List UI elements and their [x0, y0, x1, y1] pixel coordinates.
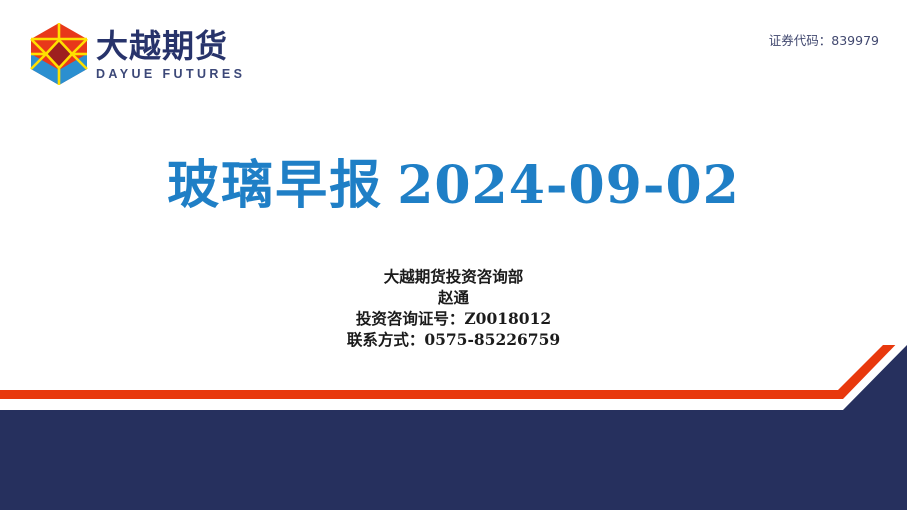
company-logo: 大越期货 DAYUE FUTURES — [30, 22, 245, 86]
contact-block: 大越期货投资咨询部 赵通 投资咨询证号：Z0018012 联系方式：0575-8… — [0, 266, 907, 350]
bottom-decorative-band — [0, 345, 907, 510]
logo-chinese-name: 大越期货 — [96, 30, 245, 62]
dayue-hexagon-logo-icon — [30, 22, 88, 86]
logo-wordmark: 大越期货 DAYUE FUTURES — [96, 28, 245, 81]
contact-department: 大越期货投资咨询部 — [0, 266, 907, 287]
page-title-date: 2024-09-02 — [397, 155, 740, 216]
report-cover-slide: 大越期货 DAYUE FUTURES 证券代码：839979 玻璃早报2024-… — [0, 0, 907, 510]
security-code: 证券代码：839979 — [769, 30, 879, 49]
logo-english-name: DAYUE FUTURES — [96, 68, 245, 81]
page-title-main: 玻璃早报 — [167, 156, 383, 216]
band-navy-shape — [0, 345, 907, 510]
page-title: 玻璃早报2024-09-02 — [0, 143, 907, 218]
contact-analyst: 赵通 — [0, 287, 907, 308]
contact-license: 投资咨询证号：Z0018012 — [0, 308, 907, 329]
band-orange-stripe — [0, 345, 907, 399]
